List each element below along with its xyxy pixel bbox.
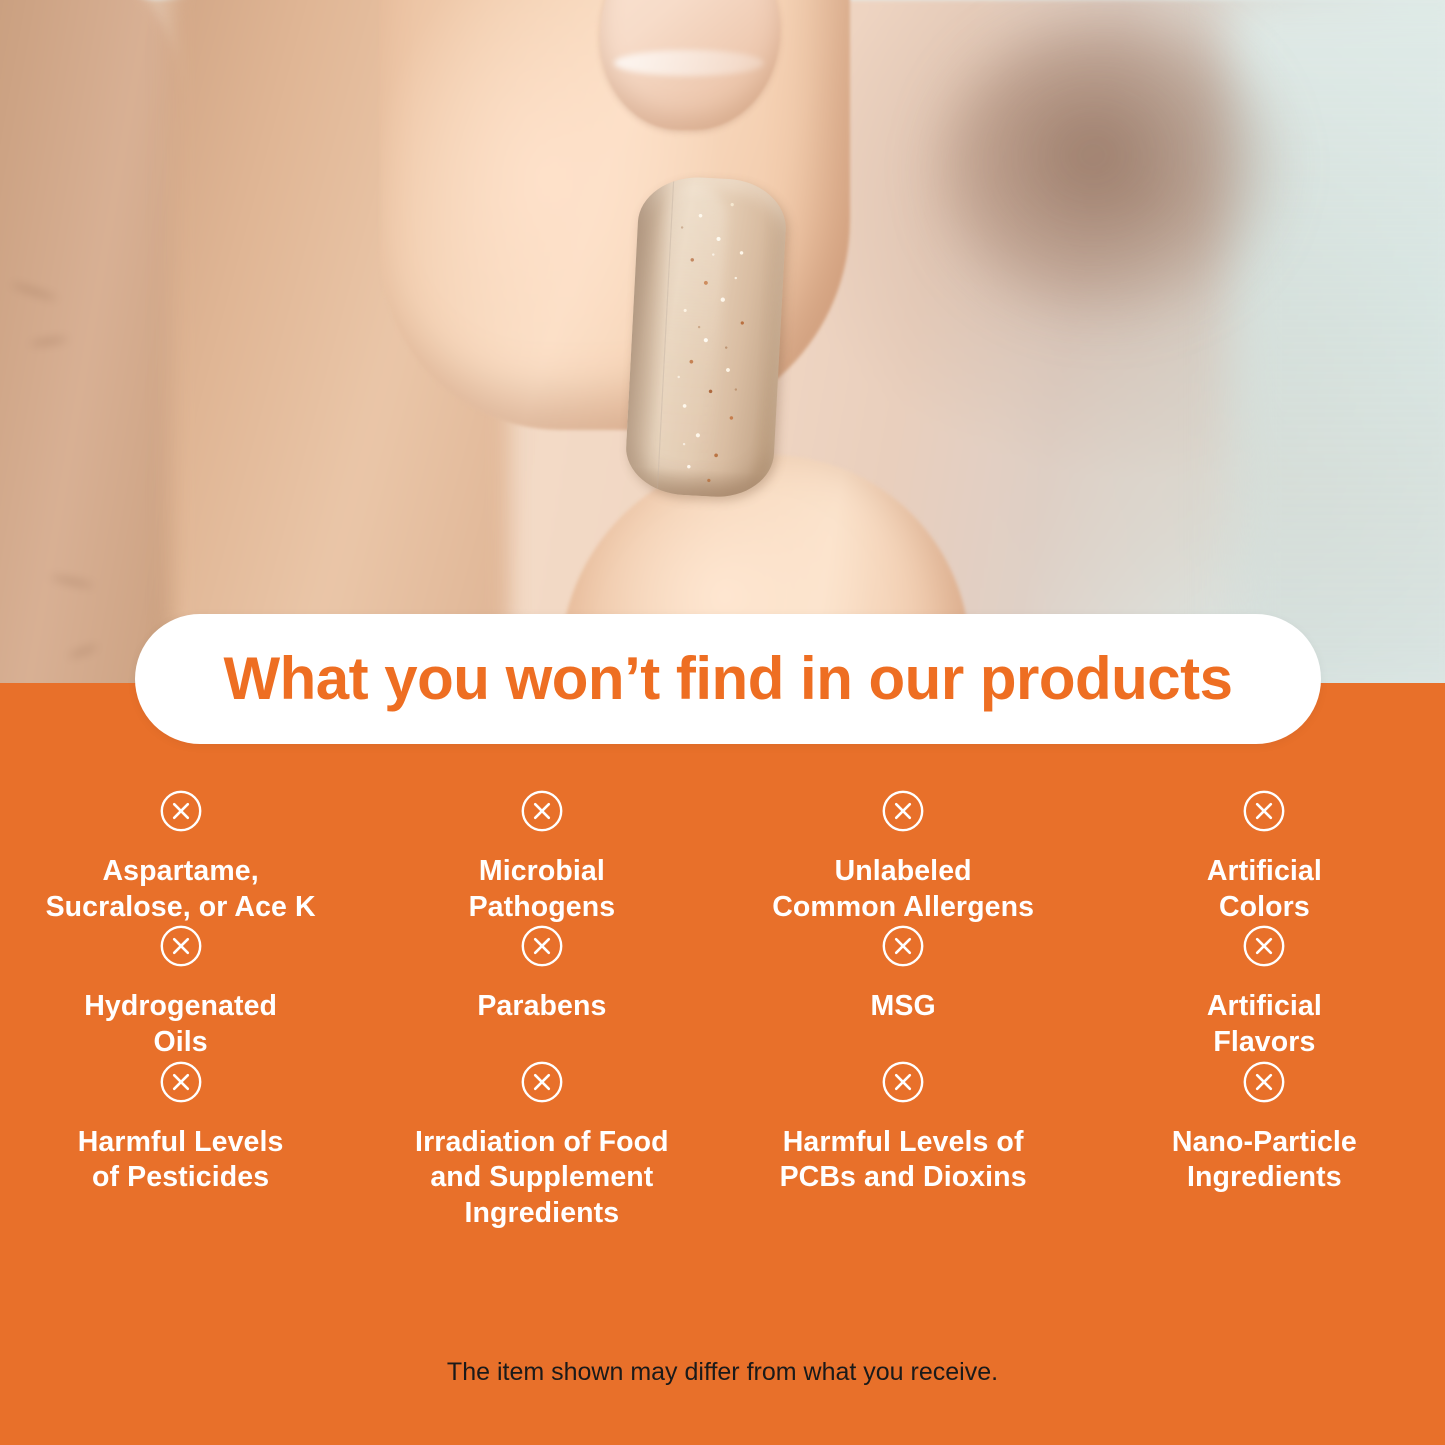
circle-x-icon xyxy=(521,925,563,967)
skin-detail xyxy=(11,283,58,301)
circle-x-icon xyxy=(1243,1061,1285,1103)
exclusion-item: Parabens xyxy=(361,925,722,1060)
exclusion-item: Harmful Levels ofPCBs and Dioxins xyxy=(723,1061,1084,1232)
exclusion-item-label: Aspartame,Sucralose, or Ace K xyxy=(46,854,316,925)
exclusion-item: Harmful Levelsof Pesticides xyxy=(0,1061,361,1232)
photo-background-dark-blur xyxy=(940,20,1280,320)
exclusion-item: MSG xyxy=(723,925,1084,1060)
circle-x-icon xyxy=(160,790,202,832)
exclusion-item-label: UnlabeledCommon Allergens xyxy=(772,854,1034,925)
exclusion-item: ArtificialFlavors xyxy=(1084,925,1445,1060)
headline-emphasis: won’t xyxy=(506,645,660,712)
circle-x-icon xyxy=(521,790,563,832)
circle-x-icon xyxy=(882,1061,924,1103)
headline-part-3: find in our products xyxy=(660,645,1233,712)
exclusion-item-label: HydrogenatedOils xyxy=(84,989,277,1060)
disclaimer-note: The item shown may differ from what you … xyxy=(0,1358,1445,1387)
hand-icon xyxy=(0,0,195,692)
circle-x-icon xyxy=(160,925,202,967)
exclusion-item-label: Parabens xyxy=(477,989,606,1025)
exclusion-item-label: MicrobialPathogens xyxy=(469,854,616,925)
exclusion-item-label: Irradiation of Foodand SupplementIngredi… xyxy=(415,1125,669,1232)
page-title: What you won’t find in our products xyxy=(223,649,1232,709)
infographic-page: What you won’t find in our products Aspa… xyxy=(0,0,1445,1445)
headline-card: What you won’t find in our products xyxy=(135,614,1321,744)
exclusion-item-label: Harmful Levelsof Pesticides xyxy=(78,1125,284,1196)
exclusion-item: HydrogenatedOils xyxy=(0,925,361,1060)
exclusion-item: UnlabeledCommon Allergens xyxy=(723,790,1084,925)
skin-detail xyxy=(50,575,94,587)
exclusion-item-label: ArtificialFlavors xyxy=(1207,989,1322,1060)
exclusion-item: Irradiation of Foodand SupplementIngredi… xyxy=(361,1061,722,1232)
product-photo xyxy=(0,0,1445,692)
exclusion-item: Aspartame,Sucralose, or Ace K xyxy=(0,790,361,925)
headline-part-1: What you xyxy=(223,645,505,712)
exclusion-item: ArtificialColors xyxy=(1084,790,1445,925)
exclusion-item: MicrobialPathogens xyxy=(361,790,722,925)
circle-x-icon xyxy=(521,1061,563,1103)
tablet-icon xyxy=(624,174,788,499)
circle-x-icon xyxy=(882,790,924,832)
exclusion-item-label: ArtificialColors xyxy=(1207,854,1322,925)
circle-x-icon xyxy=(160,1061,202,1103)
circle-x-icon xyxy=(1243,925,1285,967)
exclusion-item: Nano-ParticleIngredients xyxy=(1084,1061,1445,1232)
circle-x-icon xyxy=(1243,790,1285,832)
circle-x-icon xyxy=(882,925,924,967)
exclusion-item-label: Harmful Levels ofPCBs and Dioxins xyxy=(780,1125,1027,1196)
skin-detail xyxy=(68,645,97,658)
exclusions-grid: Aspartame,Sucralose, or Ace KMicrobialPa… xyxy=(0,790,1445,1231)
exclusion-item-label: Nano-ParticleIngredients xyxy=(1172,1125,1357,1196)
skin-detail xyxy=(30,337,68,345)
exclusion-item-label: MSG xyxy=(871,989,936,1025)
